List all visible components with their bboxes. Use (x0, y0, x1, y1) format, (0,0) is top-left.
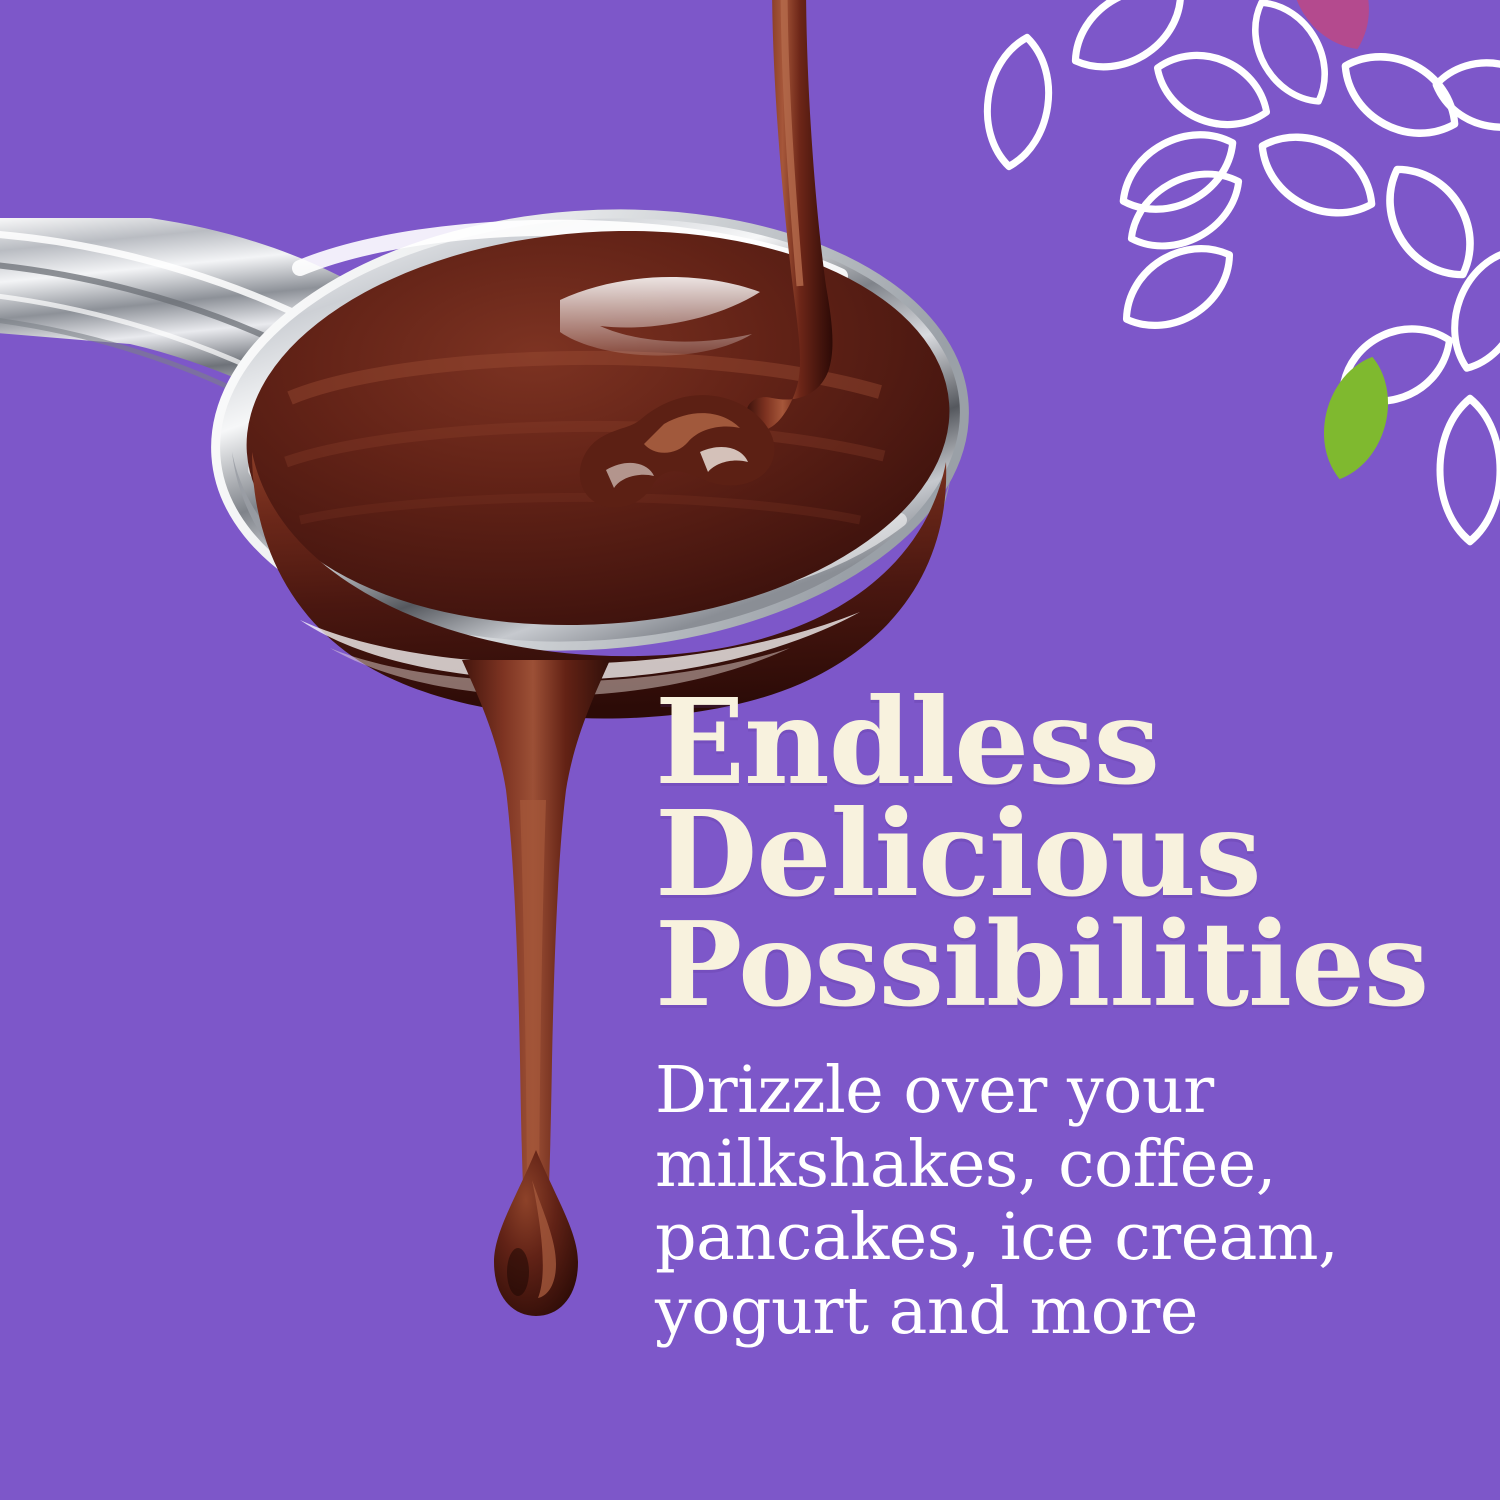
leaf-outline-icon (1431, 54, 1500, 136)
subcopy-line-3: pancakes, ice cream, (655, 1201, 1445, 1274)
leaf-outline-icon (1329, 311, 1463, 420)
headline-line-3: Possibilities (655, 910, 1445, 1020)
subcopy: Drizzle over your milkshakes, coffee, pa… (655, 1054, 1445, 1348)
leaf-outline-icon (1237, 0, 1343, 116)
headline-line-2: Delicious (655, 798, 1445, 910)
promo-poster: Endless Delicious Possibilities Drizzle … (0, 0, 1500, 1500)
subcopy-line-2: milkshakes, coffee, (655, 1128, 1445, 1201)
leaf-outline-icon (1108, 115, 1247, 229)
leaf-outline-icon (1330, 37, 1470, 153)
page-title: Endless Delicious Possibilities (655, 686, 1445, 1020)
leaf-outline-icon (1369, 152, 1492, 293)
leaf-outline-icon (1117, 155, 1252, 265)
leaf-outline-icon (1439, 241, 1500, 378)
leaf-outline-icon (1110, 228, 1246, 346)
magenta-leaf-icon (1271, 0, 1389, 64)
chocolate-drip (462, 660, 610, 1316)
subcopy-line-1: Drizzle over your (655, 1054, 1445, 1127)
headline-line-1: Endless (655, 686, 1445, 798)
leaf-outline-icon (1146, 39, 1279, 142)
leaf-outline-icon (1440, 399, 1500, 542)
subcopy-line-4: yogurt and more (655, 1275, 1445, 1348)
leaf-outline-icon (1059, 0, 1198, 88)
leaf-outline-icon (1247, 117, 1387, 232)
green-leaf-icon (1311, 349, 1402, 487)
copy-block: Endless Delicious Possibilities Drizzle … (655, 686, 1445, 1348)
